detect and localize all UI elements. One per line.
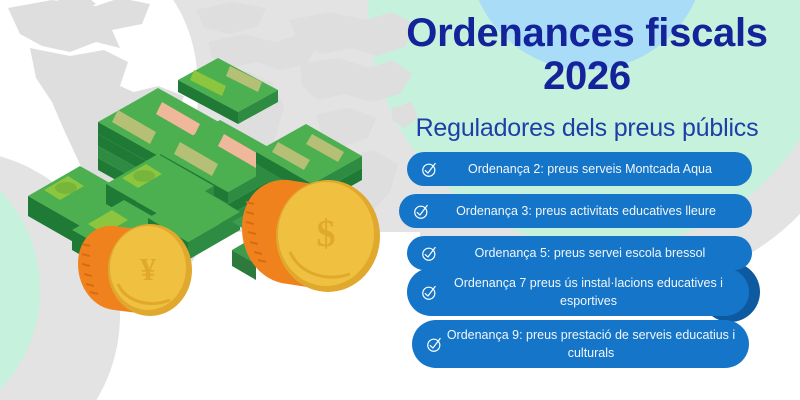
ordinance-list: Ordenança 2: preus serveis Montcada Aqua… [0,0,800,400]
check-circle-icon [413,203,430,220]
check-circle-icon [421,161,438,178]
list-item-label: Ordenança 3: preus activitats educatives… [430,202,752,220]
list-item-label: Ordenança 9: preus prestació de serveis … [443,326,749,362]
list-item[interactable]: Ordenança 3: preus activitats educatives… [399,194,752,228]
list-item-label: Ordenança 7 preus ús instal·lacions educ… [438,274,749,310]
check-circle-icon [421,245,438,262]
check-circle-icon [426,336,443,353]
poster-canvas: $ ¥ Ordenances fiscals 2026 Reguladores … [0,0,800,400]
list-item[interactable]: Ordenança 9: preus prestació de serveis … [412,320,749,368]
list-item-label: Ordenança 5: preus servei escola bressol [438,244,752,262]
list-item[interactable]: Ordenança 2: preus serveis Montcada Aqua [407,152,752,186]
list-item[interactable]: Ordenança 7 preus ús instal·lacions educ… [407,268,749,316]
check-circle-icon [421,284,438,301]
list-item[interactable]: Ordenança 5: preus servei escola bressol [407,236,752,270]
list-item-label: Ordenança 2: preus serveis Montcada Aqua [438,160,752,178]
